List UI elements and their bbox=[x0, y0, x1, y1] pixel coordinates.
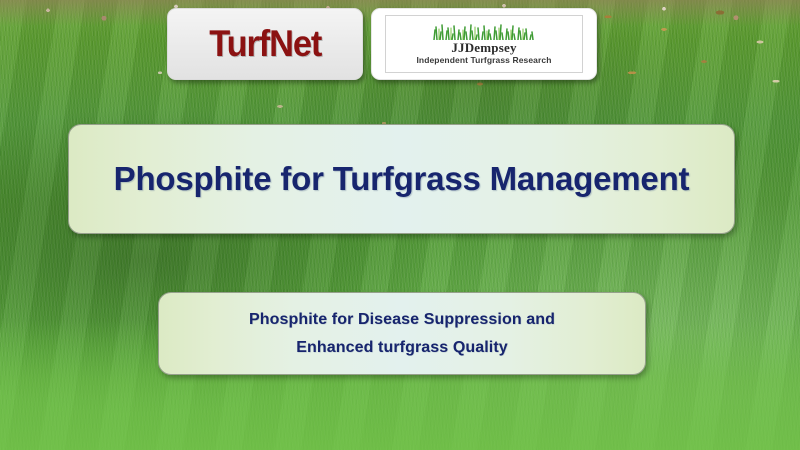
title-panel: Phosphite for Turfgrass Management bbox=[68, 124, 735, 234]
jjdempsey-logo-inner: JJDempsey Independent Turfgrass Research bbox=[385, 15, 583, 73]
jjdempsey-name: JJDempsey bbox=[451, 41, 516, 55]
jjdempsey-tagline: Independent Turfgrass Research bbox=[416, 56, 551, 65]
presentation-slide: TurfNet bbox=[0, 0, 800, 450]
logo-strip: TurfNet bbox=[163, 4, 599, 84]
subtitle-line-1: Phosphite for Disease Suppression and bbox=[249, 311, 555, 329]
page-title: Phosphite for Turfgrass Management bbox=[114, 160, 690, 198]
jjdempsey-logo[interactable]: JJDempsey Independent Turfgrass Research bbox=[371, 8, 597, 80]
subtitle-panel: Phosphite for Disease Suppression and En… bbox=[158, 292, 646, 375]
grass-blades-icon bbox=[430, 23, 538, 40]
subtitle-line-2: Enhanced turfgrass Quality bbox=[296, 339, 508, 357]
turfnet-wordmark: TurfNet bbox=[209, 23, 321, 65]
turfnet-logo[interactable]: TurfNet bbox=[167, 8, 363, 80]
